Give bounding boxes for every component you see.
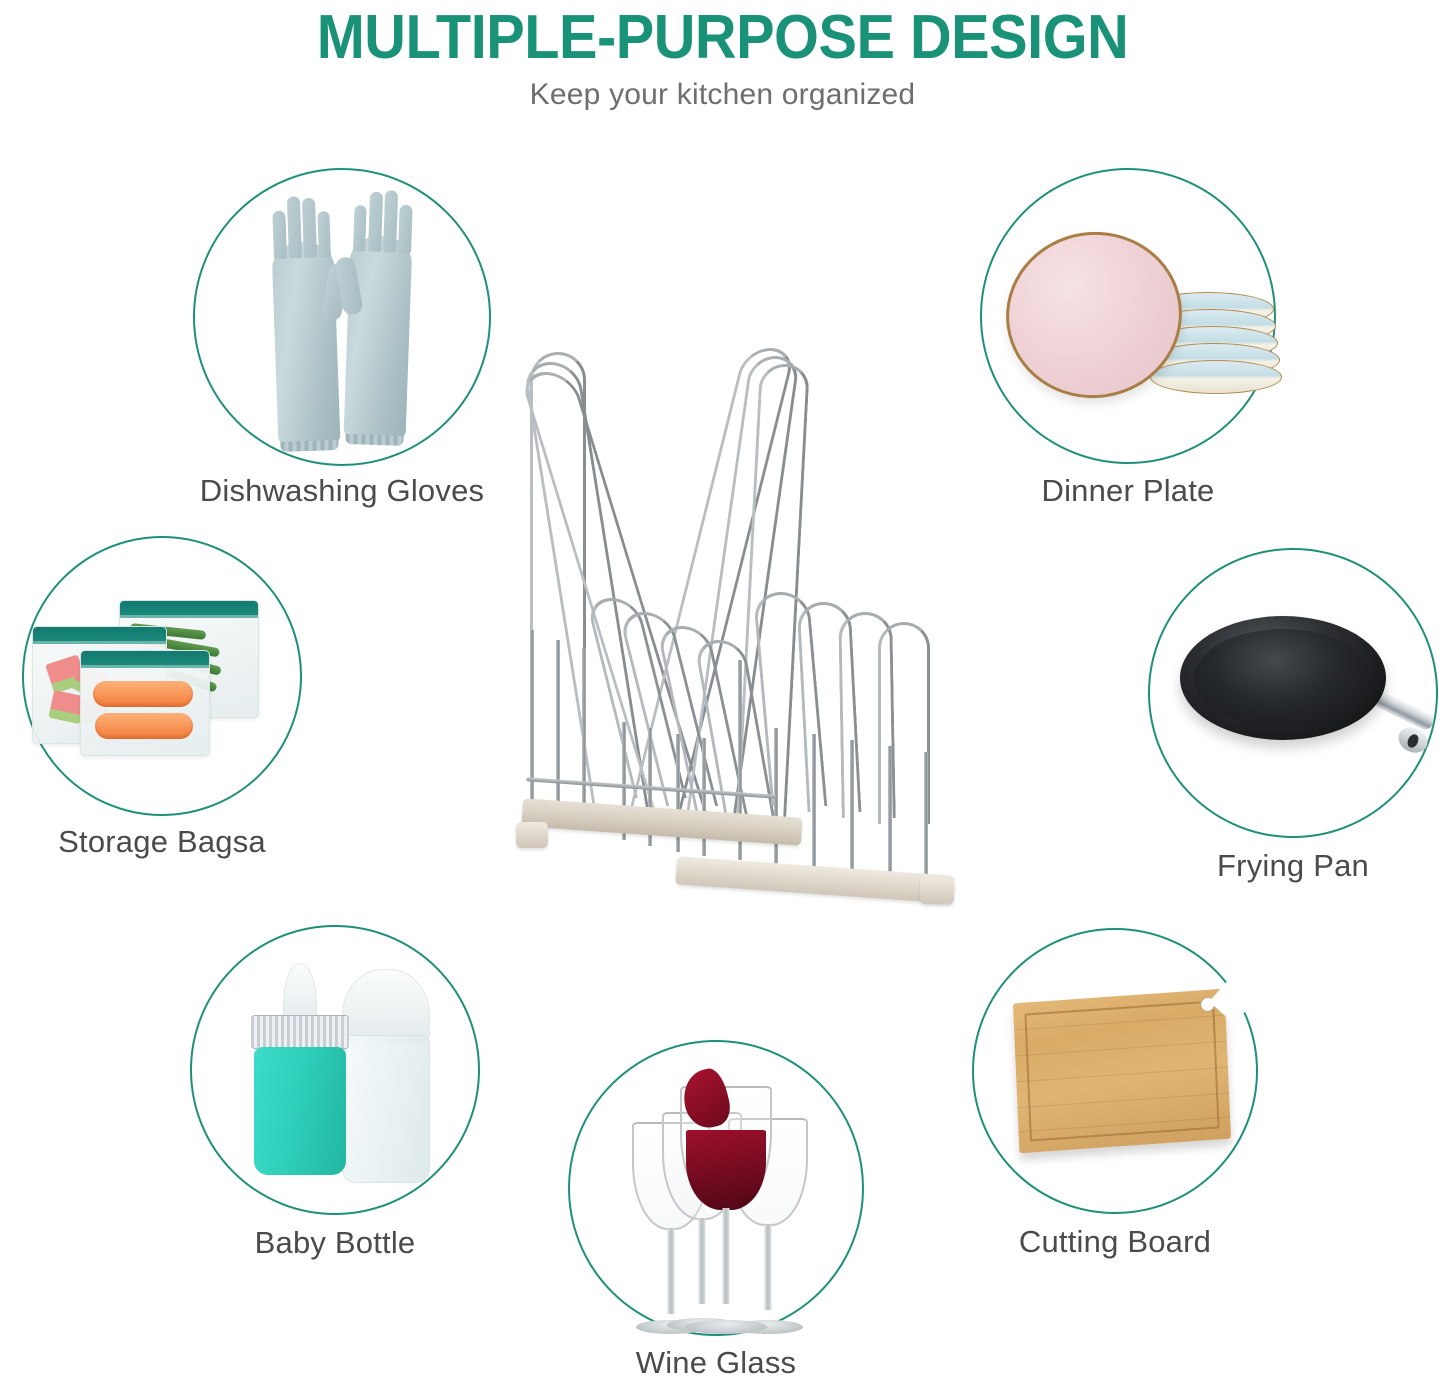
callout-label-baby-bottle: Baby Bottle [190,1225,480,1261]
rack-post-13 [924,752,928,886]
dinner-plate-illustration [982,170,1274,462]
wine-glass-illustration [570,1042,862,1334]
pot-lid-organizer-rack [490,330,960,930]
page-title: MULTIPLE-PURPOSE DESIGN [51,2,1395,73]
wine-glass-front-filled [680,1086,772,1334]
callout-label-cutting-board: Cutting Board [972,1224,1258,1260]
callout-circle-dishwashing-gloves [193,168,491,466]
callout-label-frying-pan: Frying Pan [1148,848,1438,884]
cutting-board-illustration [974,930,1256,1212]
rack-post-10 [812,734,816,872]
callout-label-storage-bags: Storage Bagsa [22,824,302,860]
rack-base-connector-right [920,878,954,904]
storage-bags-illustration [24,538,300,814]
glove-left-icon [271,241,340,448]
callout-circle-storage-bags [22,536,302,816]
callout-cutting-board: Cutting Board [972,928,1258,1268]
glove-right-icon [343,235,412,442]
bamboo-board-icon [1013,989,1231,1154]
plate-stack-icon [982,170,1274,462]
frying-pan-illustration [1150,550,1436,836]
rack-post-1 [530,630,534,818]
callout-storage-bags: Storage Bagsa [22,536,302,866]
callout-circle-dinner-plate [980,168,1276,464]
callout-label-wine-glass: Wine Glass [568,1345,864,1381]
callout-dishwashing-gloves: Dishwashing Gloves [193,168,491,513]
pan-body-icon [1180,616,1386,740]
callout-circle-cutting-board [972,928,1258,1214]
rack-post-11 [850,740,854,878]
callout-wine-glass: Wine Glass [568,1040,864,1380]
callout-label-dishwashing-gloves: Dishwashing Gloves [193,473,491,509]
callout-circle-wine-glass [568,1040,864,1336]
storage-bag-shrimp [80,650,210,756]
baby-bottle-turquoise [254,957,346,1197]
baby-bottle-illustration [192,927,478,1213]
rack-post-12 [888,746,892,884]
callout-dinner-plate: Dinner Plate [980,168,1276,513]
baby-bottle-clear [342,965,430,1195]
callout-circle-baby-bottle [190,925,480,1215]
callout-circle-frying-pan [1148,548,1438,838]
page-subtitle: Keep your kitchen organized [0,78,1445,112]
dishwashing-gloves-illustration [195,170,489,464]
rack-post-3 [582,648,586,828]
callout-frying-pan: Frying Pan [1148,548,1438,888]
infographic-page: MULTIPLE-PURPOSE DESIGN Keep your kitche… [0,0,1445,1383]
callout-label-dinner-plate: Dinner Plate [980,473,1276,509]
callout-baby-bottle: Baby Bottle [190,925,480,1265]
short-divider-8 [878,622,930,824]
rack-post-2 [556,640,560,824]
rack-base-connector-left [516,822,548,848]
